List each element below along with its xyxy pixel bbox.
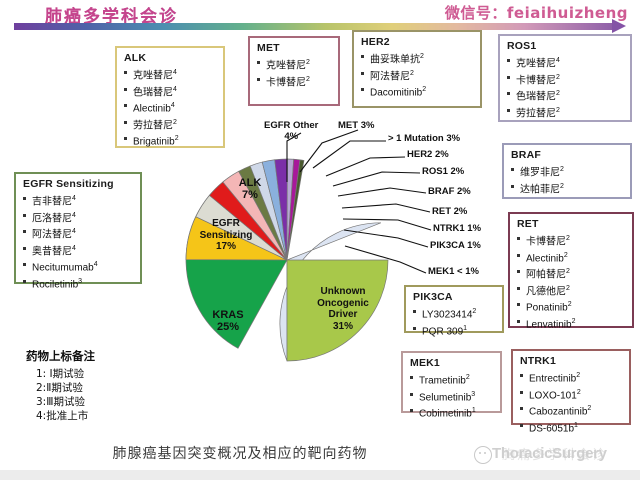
drug-item: 达帕菲尼2 — [510, 180, 624, 197]
drug-item: Entrectinib2 — [519, 369, 623, 386]
drug-item: Brigatinib2 — [123, 132, 217, 149]
pie-svg — [183, 156, 391, 364]
drug-item: Ponatinib2 — [516, 298, 626, 315]
drug-item: 凡德他尼2 — [516, 282, 626, 299]
gene-box-her2-drug-list: 曲妥珠单抗2阿法替尼2Dacomitinib2 — [360, 50, 474, 100]
drug-item: Rociletinib3 — [22, 275, 134, 292]
drug-item: LY30234142 — [412, 305, 496, 322]
pie-outlabel-ret: RET 2% — [432, 206, 467, 217]
gene-box-mek1: MEK1Trametinib2Selumetinib3Cobimetinib1 — [401, 351, 502, 413]
pie-outlabel-multi-mutation: > 1 Mutation 3% — [388, 133, 460, 144]
drug-item: LOXO-1012 — [519, 386, 623, 403]
wechat-label: 微信号： — [445, 4, 507, 22]
gene-box-met-drug-list: 克唑替尼2卡博替尼2 — [256, 56, 332, 89]
drug-item: 奥昔替尼4 — [22, 242, 134, 259]
gene-box-pik3ca: PIK3CALY30234142PQR 3091 — [404, 285, 504, 333]
drug-item: 克唑替尼4 — [123, 66, 217, 83]
pie-outlabel-met: MET 3% — [338, 120, 374, 131]
gene-box-ntrk1-drug-list: Entrectinib2LOXO-1012Cabozantinib2DS-605… — [519, 369, 623, 435]
gene-box-ros1: ROS1克唑替尼4卡博替尼2色瑞替尼2劳拉替尼2 — [498, 34, 632, 122]
gene-box-her2: HER2曲妥珠单抗2阿法替尼2Dacomitinib2 — [352, 30, 482, 108]
pie-outlabel-pik3ca: PIK3CA 1% — [430, 240, 481, 251]
pie-chart — [183, 156, 391, 364]
drug-item: 维罗非尼2 — [510, 163, 624, 180]
gene-box-ret-drug-list: 卡博替尼2Alectinib2阿帕替尼2凡德他尼2Ponatinib2Lenva… — [516, 232, 626, 331]
gene-box-her2-title: HER2 — [361, 36, 474, 48]
footnote-legend-item: 3:Ⅲ期试验 — [26, 395, 146, 409]
gene-box-alk-drug-list: 克唑替尼4色瑞替尼4Alectinib4劳拉替尼2Brigatinib2 — [123, 66, 217, 149]
gene-box-ntrk1-title: NTRK1 — [520, 355, 623, 367]
drug-item: 卡博替尼2 — [516, 232, 626, 249]
drug-item: 色瑞替尼2 — [506, 87, 624, 104]
gene-box-ret: RET卡博替尼2Alectinib2阿帕替尼2凡德他尼2Ponatinib2Le… — [508, 212, 634, 328]
gene-box-pik3ca-drug-list: LY30234142PQR 3091 — [412, 305, 496, 338]
gene-box-met-title: MET — [257, 42, 332, 54]
footer-bar — [0, 470, 640, 480]
watermark-text: ThoracicSurgery — [492, 445, 607, 462]
pie-slice-kras — [287, 260, 388, 361]
gene-box-mek1-drug-list: Trametinib2Selumetinib3Cobimetinib1 — [409, 371, 494, 421]
pie-outlabel-her2: HER2 2% — [407, 149, 449, 160]
pie-outlabel-ntrk1: NTRK1 1% — [433, 223, 481, 234]
gene-box-mek1-title: MEK1 — [410, 357, 494, 369]
drug-item: 阿法替尼2 — [360, 67, 474, 84]
footnote-legend-item: 4:批准上市 — [26, 409, 146, 423]
pie-outlabel-braf: BRAF 2% — [428, 186, 471, 197]
pie-outlabel-mek1: MEK1 < 1% — [428, 266, 479, 277]
gene-box-pik3ca-title: PIK3CA — [413, 291, 496, 303]
infographic-page: 肺癌多学科会诊 微信号：feiaihuizheng — [0, 0, 640, 480]
figure-caption: 肺腺癌基因突变概况及相应的靶向药物 — [0, 443, 480, 463]
watermark: 胸痛多学科会诊 ThoracicSurgery — [474, 443, 640, 469]
drug-item: Cabozantinib2 — [519, 402, 623, 419]
drug-item: Alectinib2 — [516, 249, 626, 266]
gene-box-alk-title: ALK — [124, 52, 217, 64]
drug-item: Cobimetinib1 — [409, 404, 494, 421]
gene-box-ret-title: RET — [517, 218, 626, 230]
pie-outlabel-egfr-other-l1: EGFR Other — [264, 120, 318, 131]
drug-item: Lenvatinib2 — [516, 315, 626, 332]
gene-box-met: MET克唑替尼2卡博替尼2 — [248, 36, 340, 106]
drug-item: Alectinib4 — [123, 99, 217, 116]
footnote-legend-item: 1: Ⅰ期试验 — [26, 367, 146, 381]
header-wechat: 微信号：feiaihuizheng — [445, 2, 628, 23]
gene-box-ros1-drug-list: 克唑替尼4卡博替尼2色瑞替尼2劳拉替尼2 — [506, 54, 624, 120]
gene-box-egfr-title: EGFR Sensitizing — [23, 178, 134, 190]
wechat-id: feiaihuizheng — [507, 4, 628, 22]
drug-item: 曲妥珠单抗2 — [360, 50, 474, 67]
footnote-legend-title: 药物上标备注 — [26, 348, 146, 364]
drug-item: Dacomitinib2 — [360, 83, 474, 100]
drug-item: 克唑替尼4 — [506, 54, 624, 71]
drug-item: 吉非替尼4 — [22, 192, 134, 209]
pie-outlabel-egfr-other: EGFR Other 4% — [264, 120, 318, 142]
drug-item: Selumetinib3 — [409, 388, 494, 405]
drug-item: Necitumumab4 — [22, 258, 134, 275]
page-header: 肺癌多学科会诊 微信号：feiaihuizheng — [0, 0, 640, 34]
gene-box-egfr-sensitizing: EGFR Sensitizing吉非替尼4厄洛替尼4阿法替尼4奥昔替尼4Neci… — [14, 172, 142, 284]
drug-item: 厄洛替尼4 — [22, 209, 134, 226]
drug-item: 劳拉替尼2 — [506, 104, 624, 121]
gene-box-alk: ALK克唑替尼4色瑞替尼4Alectinib4劳拉替尼2Brigatinib2 — [115, 46, 225, 148]
gene-box-ntrk1: NTRK1Entrectinib2LOXO-1012Cabozantinib2D… — [511, 349, 631, 425]
drug-item: 劳拉替尼2 — [123, 116, 217, 133]
drug-item: 色瑞替尼4 — [123, 83, 217, 100]
drug-item: PQR 3091 — [412, 322, 496, 339]
drug-item: 阿帕替尼2 — [516, 265, 626, 282]
drug-item: 卡博替尼2 — [506, 71, 624, 88]
drug-item: 卡博替尼2 — [256, 73, 332, 90]
gene-box-braf-title: BRAF — [511, 149, 624, 161]
pie-outlabel-egfr-other-l2: 4% — [284, 131, 298, 142]
drug-item: 克唑替尼2 — [256, 56, 332, 73]
gene-box-braf: BRAF维罗非尼2达帕菲尼2 — [502, 143, 632, 199]
drug-item: DS-6051b1 — [519, 419, 623, 436]
drug-item: Trametinib2 — [409, 371, 494, 388]
pie-outlabel-ros1: ROS1 2% — [422, 166, 464, 177]
wechat-icon — [474, 446, 492, 464]
drug-item: 阿法替尼4 — [22, 225, 134, 242]
gene-box-braf-drug-list: 维罗非尼2达帕菲尼2 — [510, 163, 624, 196]
gene-box-egfr-drug-list: 吉非替尼4厄洛替尼4阿法替尼4奥昔替尼4Necitumumab4Rocileti… — [22, 192, 134, 291]
header-arrow-icon — [612, 19, 626, 33]
footnote-legend: 药物上标备注 1: Ⅰ期试验 2:Ⅱ期试验 3:Ⅲ期试验 4:批准上市 — [26, 348, 146, 423]
header-gradient-bar — [14, 23, 614, 30]
footnote-legend-item: 2:Ⅱ期试验 — [26, 381, 146, 395]
gene-box-ros1-title: ROS1 — [507, 40, 624, 52]
